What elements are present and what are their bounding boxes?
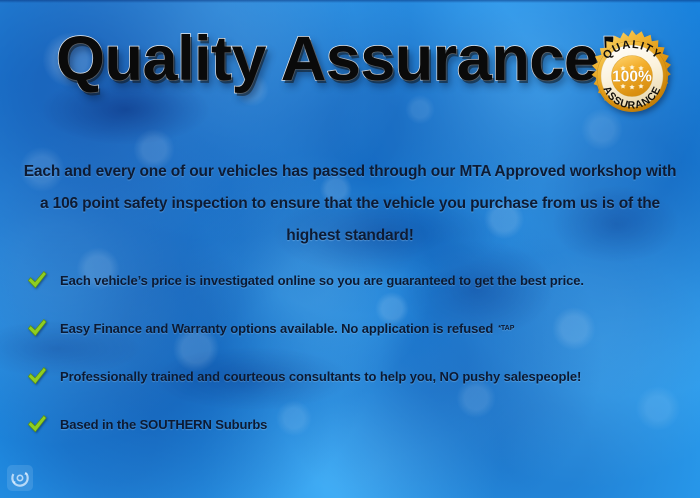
intro-paragraph: Each and every one of our vehicles has p… [22,156,678,252]
list-item-label: Professionally trained and courteous con… [60,369,581,384]
list-item-label: Easy Finance and Warranty options availa… [60,321,493,336]
quality-assurance-banner: Quality Assurance! [0,0,700,498]
list-item: Based in the SOUTHERN Suburbs [26,400,690,448]
list-item: Professionally trained and courteous con… [26,352,690,400]
refresh-button[interactable] [7,465,33,491]
list-item: Easy Finance and Warranty options availa… [26,304,690,352]
page-title: Quality Assurance! [56,28,619,91]
check-icon [26,413,48,435]
top-edge-shade [0,0,700,3]
list-item: Each vehicle’s price is investigated onl… [26,256,690,304]
benefits-list: Each vehicle’s price is investigated onl… [26,256,690,448]
list-item-note: *TAP [498,325,514,332]
list-item-label: Each vehicle’s price is investigated onl… [60,273,584,288]
check-icon [26,269,48,291]
seal-center-text: 100% [612,68,652,85]
refresh-icon [10,468,30,488]
check-icon [26,365,48,387]
quality-assurance-seal: QUALITY ASSURANCE 100% [582,28,682,128]
check-icon [26,317,48,339]
list-item-label: Based in the SOUTHERN Suburbs [60,417,267,432]
